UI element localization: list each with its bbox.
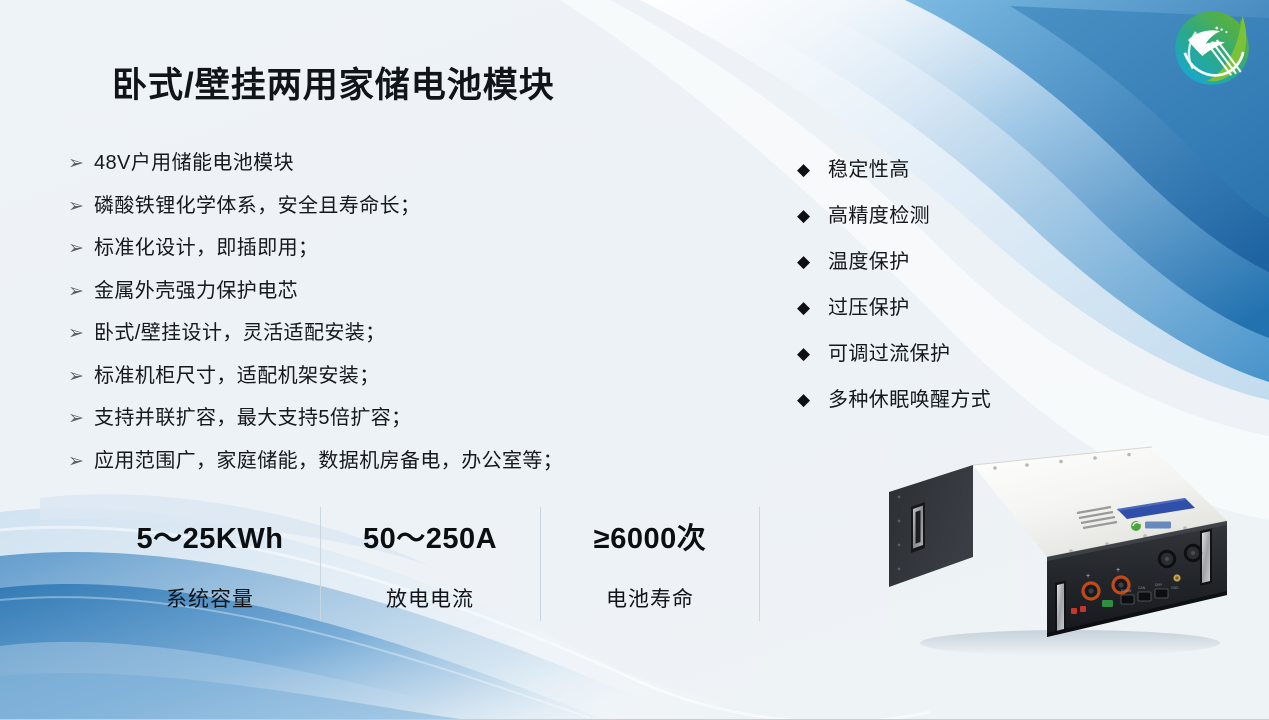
arrow-bullet-icon: ➢ xyxy=(68,449,94,473)
list-item-label: 48V户用储能电池模块 xyxy=(94,151,294,175)
stat-cycle-life: ≥6000次 电池寿命 xyxy=(540,505,760,623)
stat-discharge-current: 50～250A 放电电流 xyxy=(320,505,540,623)
svg-text:+: + xyxy=(1116,567,1120,574)
list-item: ◆ 稳定性高 xyxy=(797,158,1097,182)
list-item: ➢ 支持并联扩容，最大支持5倍扩容； xyxy=(68,406,708,430)
list-item-label: 卧式/壁挂设计，灵活适配安装； xyxy=(94,321,386,345)
list-item: ➢ 48V户用储能电池模块 xyxy=(68,151,708,175)
list-item: ➢ 标准机柜尺寸，适配机架安装； xyxy=(68,364,708,388)
list-item: ◆ 可调过流保护 xyxy=(797,342,1097,366)
arrow-bullet-icon: ➢ xyxy=(68,321,94,345)
svg-text:CAN: CAN xyxy=(1138,586,1146,590)
svg-text:RS485: RS485 xyxy=(1121,589,1131,593)
list-item: ➢ 卧式/壁挂设计，灵活适配安装； xyxy=(68,321,708,345)
stat-label: 电池寿命 xyxy=(606,583,694,613)
list-item-label: 支持并联扩容，最大支持5倍扩容； xyxy=(94,406,412,430)
list-item: ◆ 温度保护 xyxy=(797,250,1097,274)
list-item-label: 应用范围广，家庭储能，数据机房备电，办公室等； xyxy=(94,449,563,473)
list-item: ➢ 标准化设计，即插即用； xyxy=(68,236,708,260)
arrow-bullet-icon: ➢ xyxy=(68,364,94,388)
feature-list-left: ➢ 48V户用储能电池模块 ➢ 磷酸铁锂化学体系，安全且寿命长； ➢ 标准化设计… xyxy=(68,151,708,491)
stat-label: 放电电流 xyxy=(386,583,474,613)
arrow-bullet-icon: ➢ xyxy=(68,194,94,218)
stat-value: 50～250A xyxy=(363,515,497,557)
list-item-label: 标准机柜尺寸，适配机架安装； xyxy=(94,364,380,388)
diamond-bullet-icon: ◆ xyxy=(797,250,828,274)
diamond-bullet-icon: ◆ xyxy=(797,342,828,366)
list-item-label: 磷酸铁锂化学体系，安全且寿命长； xyxy=(94,194,420,218)
battery-module-photo: + + xyxy=(855,445,1250,660)
diamond-bullet-icon: ◆ xyxy=(797,158,828,182)
diamond-bullet-icon: ◆ xyxy=(797,388,828,412)
stat-value: 5～25KWh xyxy=(137,515,284,557)
list-item-label: 标准化设计，即插即用； xyxy=(94,236,318,260)
list-item-label: 可调过流保护 xyxy=(828,342,950,366)
arrow-bullet-icon: ➢ xyxy=(68,279,94,303)
list-item-label: 过压保护 xyxy=(828,296,910,320)
arrow-bullet-icon: ➢ xyxy=(68,151,94,175)
battery-module-illustration: + + xyxy=(855,445,1250,660)
arrow-bullet-icon: ➢ xyxy=(68,236,94,260)
svg-text:DRY: DRY xyxy=(1155,583,1163,587)
list-item-label: 多种休眠唤醒方式 xyxy=(828,388,991,412)
svg-text:GND: GND xyxy=(1171,586,1179,590)
stat-value: ≥6000次 xyxy=(594,515,706,557)
stat-capacity: 5～25KWh 系统容量 xyxy=(100,505,320,623)
list-item: ◆ 高精度检测 xyxy=(797,204,1097,228)
diamond-bullet-icon: ◆ xyxy=(797,296,828,320)
list-item-label: 温度保护 xyxy=(828,250,910,274)
stats-row: 5～25KWh 系统容量 50～250A 放电电流 ≥6000次 电池寿命 xyxy=(100,505,760,623)
stat-label: 系统容量 xyxy=(166,583,254,613)
list-item-label: 高精度检测 xyxy=(828,204,930,228)
diamond-bullet-icon: ◆ xyxy=(797,204,828,228)
list-item: ➢ 金属外壳强力保护电芯 xyxy=(68,279,708,303)
company-logo xyxy=(1172,8,1252,88)
list-item: ◆ 多种休眠唤醒方式 xyxy=(797,388,1097,412)
list-item-label: 金属外壳强力保护电芯 xyxy=(94,279,298,303)
feature-list-right: ◆ 稳定性高 ◆ 高精度检测 ◆ 温度保护 ◆ 过压保护 ◆ 可调过流保护 ◆ … xyxy=(797,158,1097,434)
list-item: ➢ 应用范围广，家庭储能，数据机房备电，办公室等； xyxy=(68,449,708,473)
page-title: 卧式/壁挂两用家储电池模块 xyxy=(112,57,555,108)
list-item: ◆ 过压保护 xyxy=(797,296,1097,320)
list-item-label: 稳定性高 xyxy=(828,158,910,182)
svg-text:+: + xyxy=(1086,573,1090,580)
slide-canvas: 卧式/壁挂两用家储电池模块 ➢ 48V户用储能电池模块 ➢ 磷酸铁锂化学体系，安… xyxy=(0,0,1269,720)
list-item: ➢ 磷酸铁锂化学体系，安全且寿命长； xyxy=(68,194,708,218)
company-logo-icon xyxy=(1172,8,1252,88)
arrow-bullet-icon: ➢ xyxy=(68,406,94,430)
